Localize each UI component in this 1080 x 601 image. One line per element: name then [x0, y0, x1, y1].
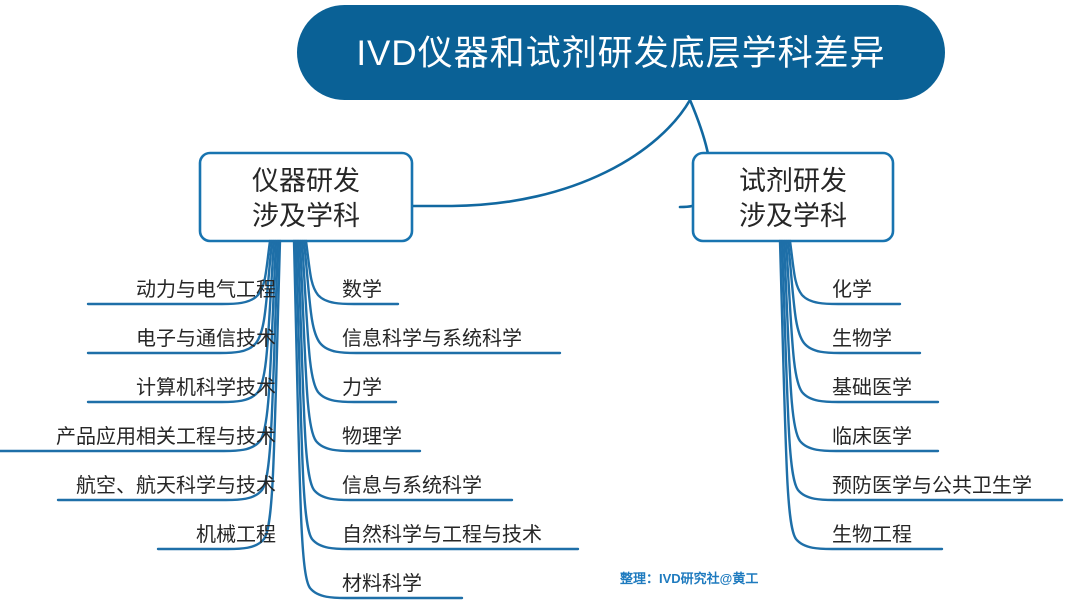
branch-line-right-5 [782, 241, 1062, 500]
title-label: IVD仪器和试剂研发底层学科差异 [356, 34, 885, 73]
branch-line-mid-6 [296, 241, 578, 549]
leaf-label-right-5[interactable]: 预防医学与公共卫生学 [832, 474, 1032, 497]
leaf-label-left-5[interactable]: 航空、航天科学与技术 [76, 474, 276, 497]
reagent-node-label-line2: 涉及学科 [739, 201, 847, 231]
leaf-label-left-1[interactable]: 动力与电气工程 [136, 278, 276, 301]
leaf-label-right-2[interactable]: 生物学 [832, 327, 892, 350]
leaf-label-mid-6[interactable]: 自然科学与工程与技术 [342, 523, 542, 546]
mindmap-diagram: IVD仪器和试剂研发底层学科差异 仪器研发 涉及学科 试剂研发 涉及学科 动力与… [0, 0, 1080, 601]
leaf-label-mid-1[interactable]: 数学 [342, 278, 382, 301]
instrument-left-leaf-labels: 动力与电气工程 电子与通信技术 计算机科学技术 产品应用相关工程与技术 航空、航… [56, 278, 276, 546]
branch-node-instrument[interactable]: 仪器研发 涉及学科 [200, 153, 412, 241]
leaf-label-mid-7[interactable]: 材料科学 [342, 572, 422, 595]
trunk-connectors [412, 100, 711, 207]
title-node: IVD仪器和试剂研发底层学科差异 [297, 5, 945, 100]
leaf-label-right-1[interactable]: 化学 [832, 278, 872, 301]
leaf-label-mid-4[interactable]: 物理学 [342, 425, 402, 448]
instrument-right-leaf-labels: 数学 信息科学与系统科学 力学 物理学 信息与系统科学 自然科学与工程与技术 材… [342, 278, 542, 595]
instrument-node-label-line2: 涉及学科 [252, 201, 360, 231]
instrument-node-label-line1: 仪器研发 [252, 166, 360, 196]
leaf-label-left-2[interactable]: 电子与通信技术 [136, 327, 276, 350]
leaf-label-left-4[interactable]: 产品应用相关工程与技术 [56, 425, 276, 448]
leaf-label-mid-2[interactable]: 信息科学与系统科学 [342, 327, 522, 350]
reagent-node-label-line1: 试剂研发 [739, 166, 847, 196]
reagent-right-leaf-labels: 化学 生物学 基础医学 临床医学 预防医学与公共卫生学 生物工程 [832, 278, 1032, 546]
leaf-label-right-4[interactable]: 临床医学 [832, 425, 912, 448]
leaf-label-left-6[interactable]: 机械工程 [196, 523, 276, 546]
leaf-label-right-3[interactable]: 基础医学 [832, 376, 912, 399]
leaf-label-mid-3[interactable]: 力学 [342, 376, 382, 399]
connector-to-instrument [412, 100, 690, 206]
reagent-right-branch-lines [780, 241, 1062, 549]
leaf-label-left-3[interactable]: 计算机科学技术 [136, 376, 276, 399]
branch-node-reagent[interactable]: 试剂研发 涉及学科 [693, 153, 893, 241]
leaf-label-mid-5[interactable]: 信息与系统科学 [342, 474, 482, 497]
credit-label: 整理：IVD研究社@黄工 [619, 571, 758, 586]
branch-line-mid-5 [298, 241, 512, 500]
leaf-label-right-6[interactable]: 生物工程 [832, 523, 912, 546]
